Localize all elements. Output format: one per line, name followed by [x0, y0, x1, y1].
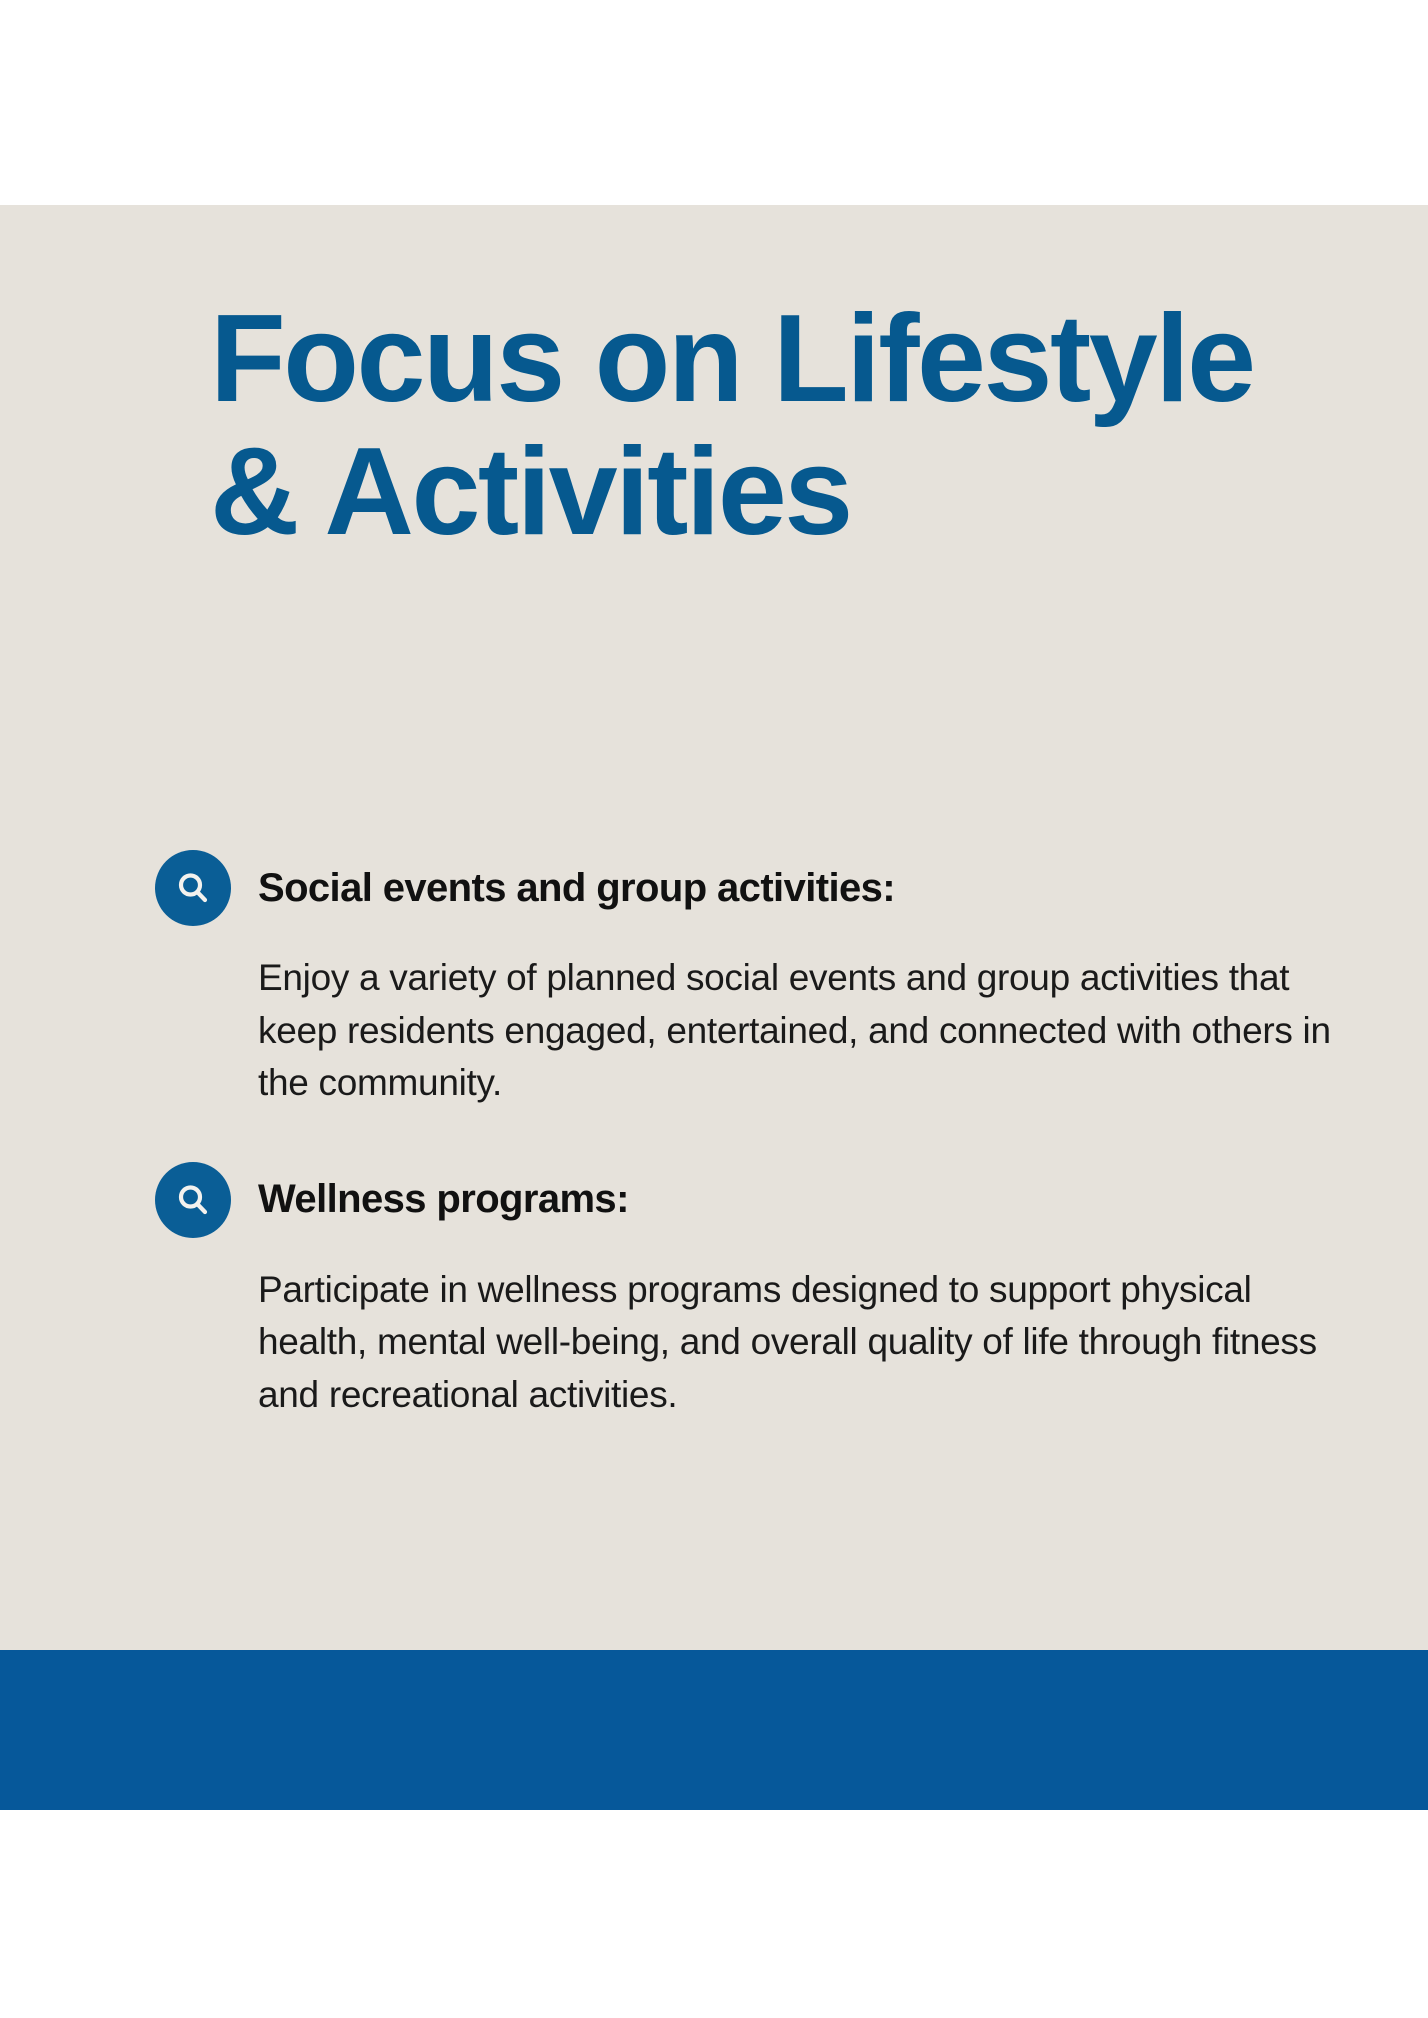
bullet-body: Participate in wellness programs designe…	[258, 1264, 1335, 1422]
bullet-body: Enjoy a variety of planned social events…	[258, 952, 1335, 1110]
content-panel: Focus on Lifestyle & Activities Social e…	[0, 205, 1428, 1650]
bullet-heading-row: Social events and group activities:	[155, 850, 1335, 926]
page-title: Focus on Lifestyle & Activities	[210, 293, 1428, 558]
bullet-list: Social events and group activities: Enjo…	[155, 850, 1335, 1473]
magnifier-icon	[155, 1162, 231, 1238]
footer-band	[0, 1650, 1428, 1810]
bullet-title: Social events and group activities:	[258, 866, 895, 911]
page-title-line-1: Focus on Lifestyle	[210, 293, 1428, 426]
bullet-title: Wellness programs:	[258, 1177, 629, 1222]
slide-canvas: Focus on Lifestyle & Activities Social e…	[0, 0, 1428, 2018]
page-title-line-2: & Activities	[210, 426, 1428, 559]
list-item: Social events and group activities: Enjo…	[155, 850, 1335, 1110]
magnifier-icon	[155, 850, 231, 926]
bullet-heading-row: Wellness programs:	[155, 1162, 1335, 1238]
list-item: Wellness programs: Participate in wellne…	[155, 1162, 1335, 1422]
